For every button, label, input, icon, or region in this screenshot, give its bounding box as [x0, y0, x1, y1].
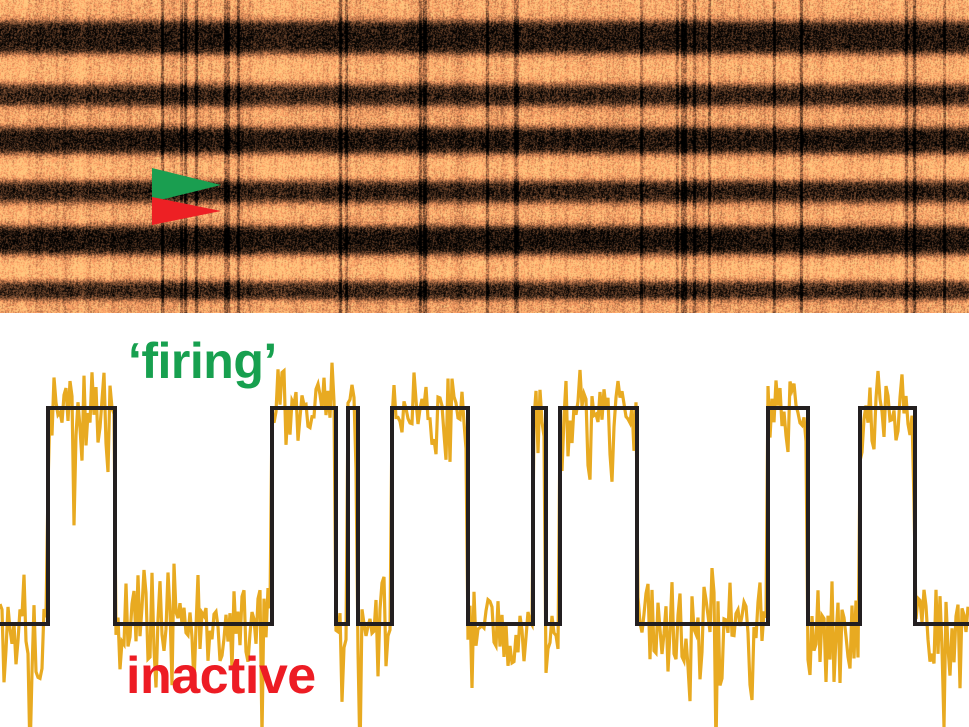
kymograph-heatmap	[0, 0, 969, 313]
red-triangle-marker	[152, 197, 221, 225]
figure-root: ‘firing’ inactive	[0, 0, 969, 727]
kymograph-panel	[0, 0, 969, 313]
firing-label: ‘firing’	[128, 336, 277, 386]
inactive-label: inactive	[126, 650, 316, 702]
